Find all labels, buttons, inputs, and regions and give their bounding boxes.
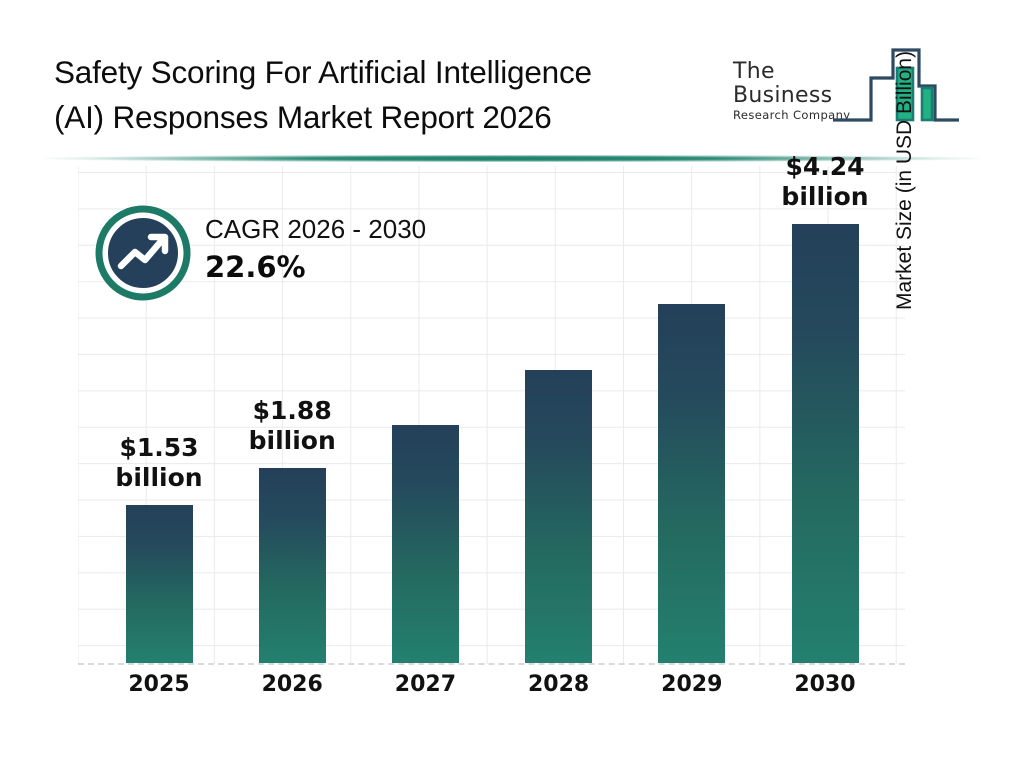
- x-tick-2030: 2030: [765, 672, 885, 697]
- x-tick-2025: 2025: [99, 672, 219, 697]
- cagr-text-block: CAGR 2026 - 2030 22.6%: [205, 211, 426, 287]
- bar-2028: [525, 370, 592, 663]
- bar-value-label-2030: $4.24 billion: [740, 152, 910, 212]
- axis-baseline: [78, 663, 905, 665]
- trending-up-arrow-icon: [95, 205, 191, 301]
- x-tick-2028: 2028: [499, 672, 619, 697]
- page-title: Safety Scoring For Artificial Intelligen…: [54, 50, 734, 140]
- company-logo: The Business Research Company: [733, 44, 973, 126]
- y-axis-title: Market Size (in USD Billion): [893, 0, 917, 310]
- x-tick-2026: 2026: [232, 672, 352, 697]
- cagr-period-label: CAGR 2026 - 2030: [205, 211, 426, 247]
- bar-2030: [792, 224, 859, 663]
- cagr-value: 22.6%: [205, 247, 426, 287]
- cagr-callout: CAGR 2026 - 2030 22.6%: [95, 205, 515, 315]
- bar-value-label-2026: $1.88 billion: [207, 396, 377, 456]
- bar-2027: [392, 425, 459, 663]
- bar-2029: [658, 304, 725, 663]
- report-header: Safety Scoring For Artificial Intelligen…: [0, 0, 1024, 150]
- x-tick-2027: 2027: [365, 672, 485, 697]
- bar-2025: [126, 505, 193, 663]
- bar-2026: [259, 468, 326, 663]
- x-tick-2029: 2029: [632, 672, 752, 697]
